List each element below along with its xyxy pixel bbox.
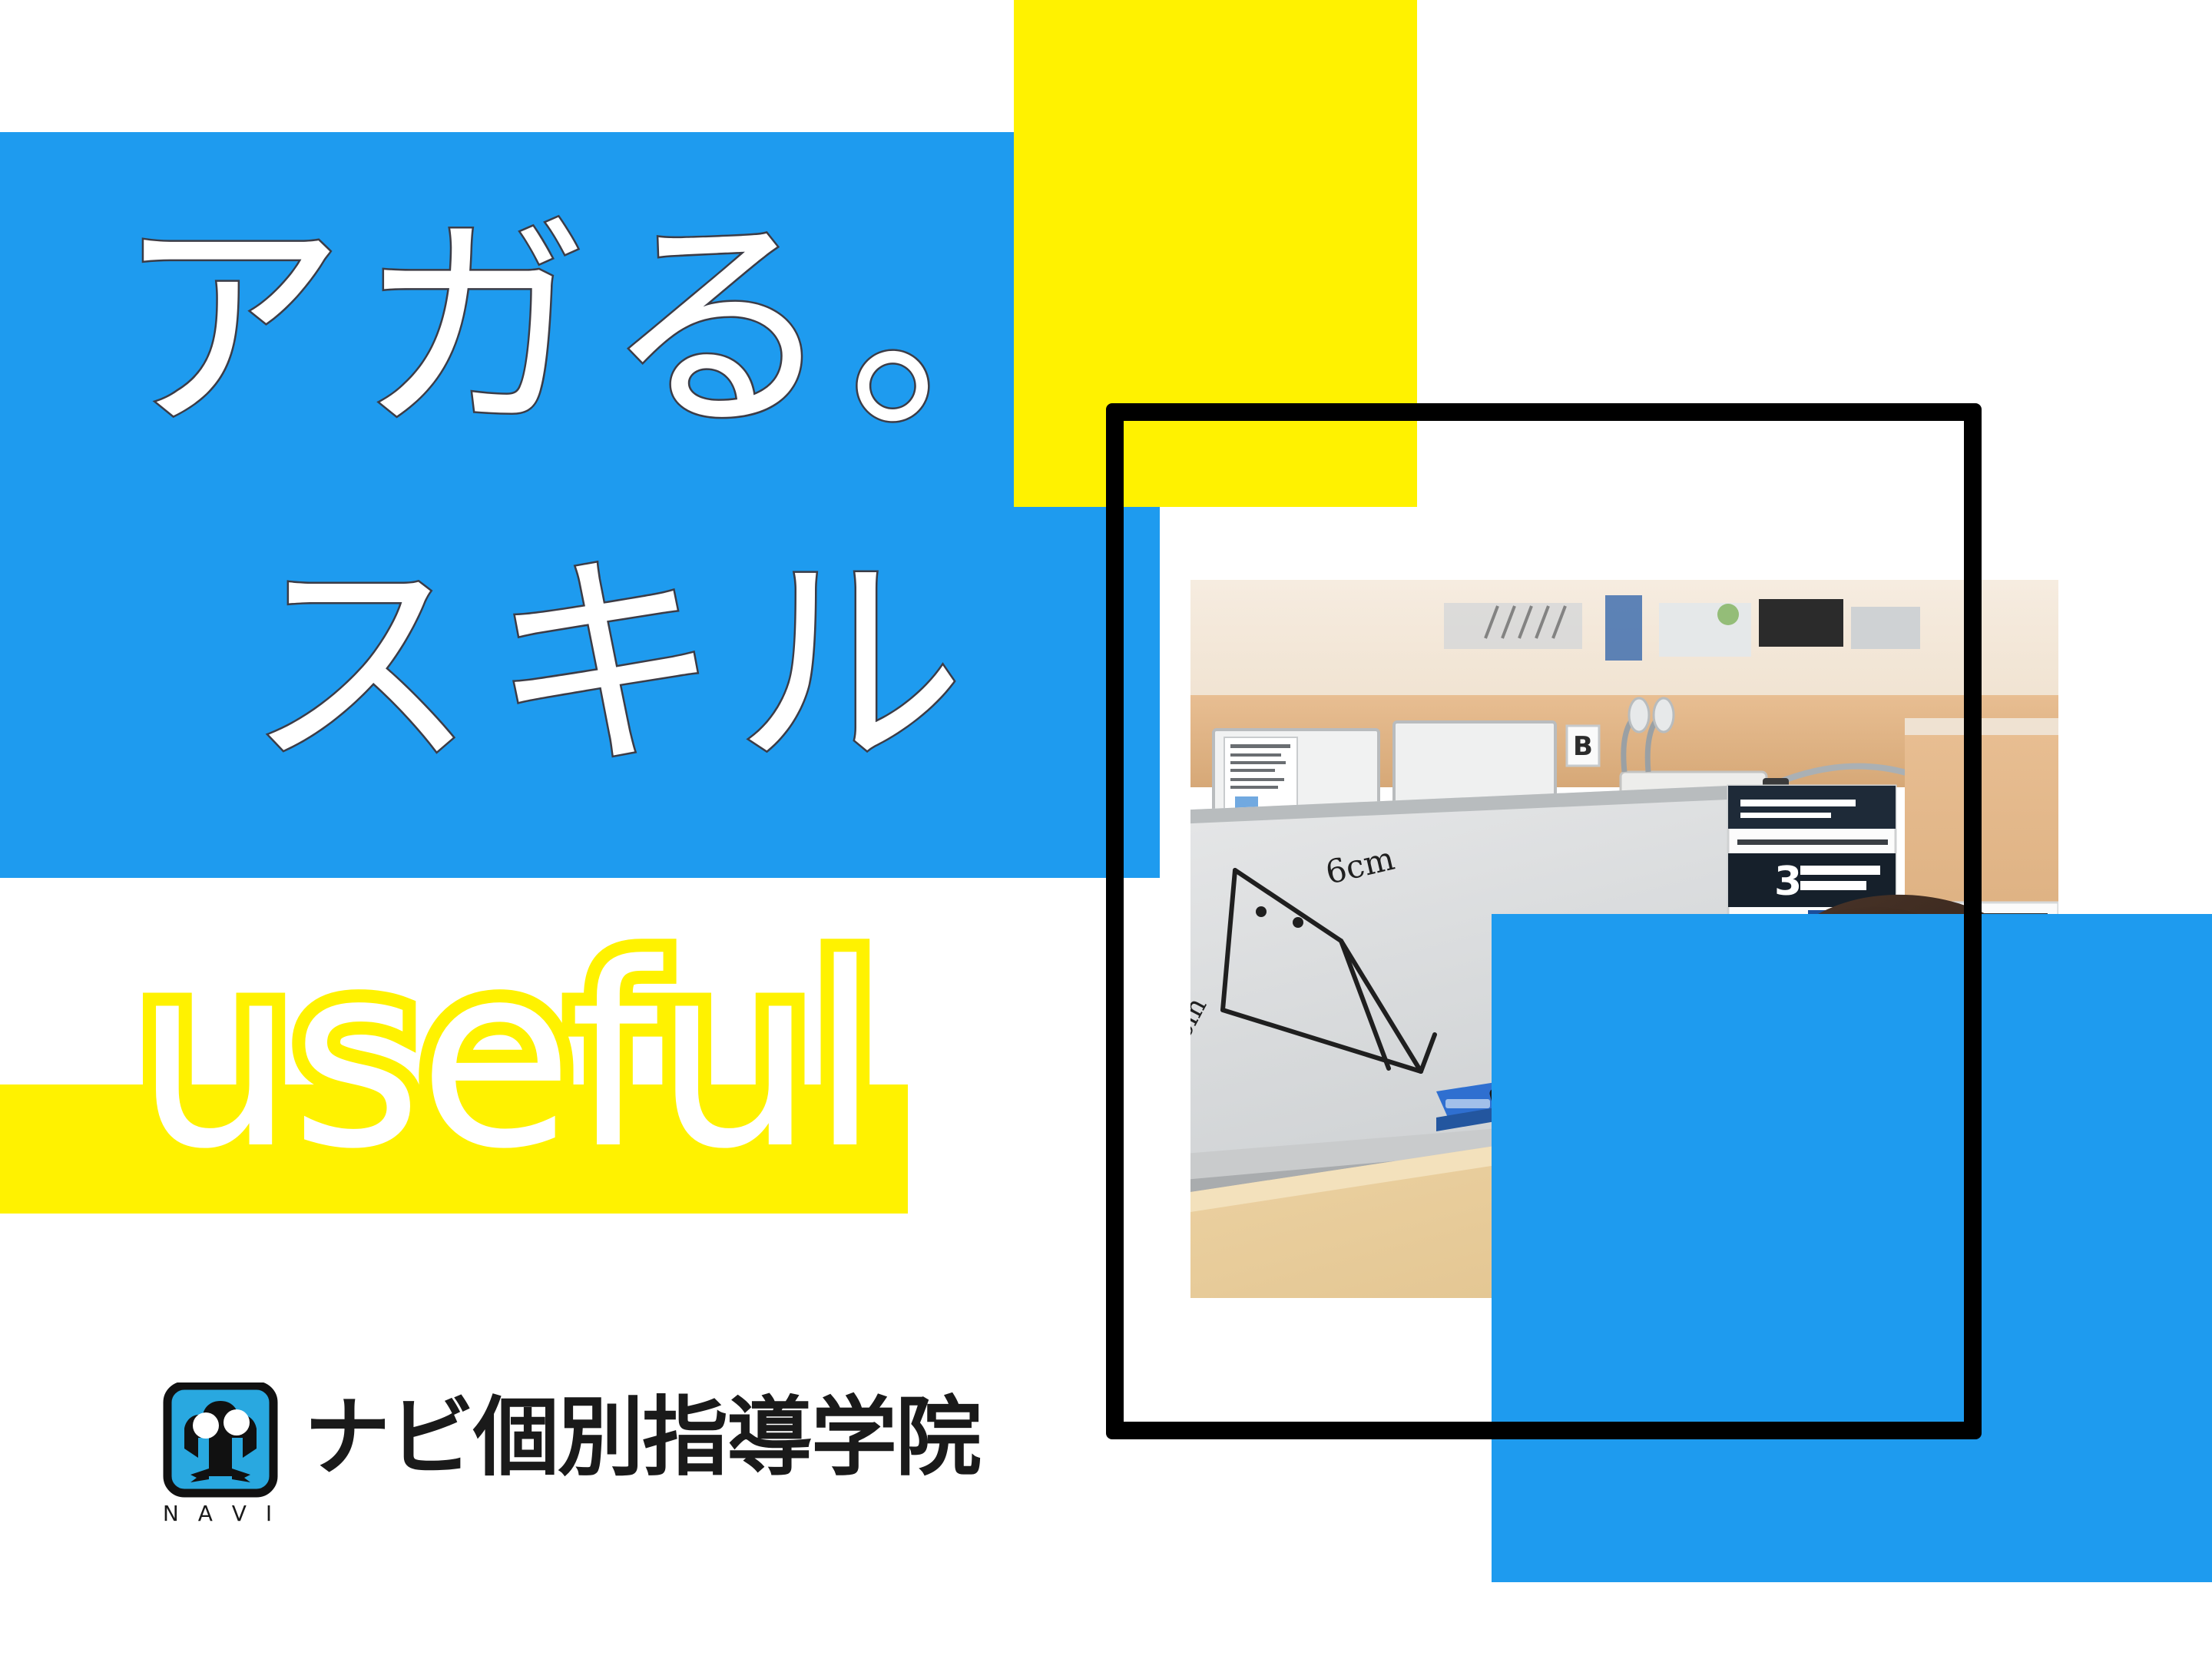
banner-canvas: B: [0, 0, 2212, 1659]
navi-caption: N A V I: [163, 1501, 278, 1526]
headline-line-2: スキル: [246, 531, 979, 783]
brand-logo: N A V I ナビ個別指導学院: [163, 1382, 1000, 1544]
brand-name-wordmark: ナビ個別指導学院: [304, 1382, 1000, 1491]
navi-mascot-icon: N A V I: [163, 1382, 278, 1528]
brand-name-text: ナビ個別指導学院: [304, 1388, 981, 1488]
useful-wordmark: useful: [134, 891, 949, 1214]
photo-outline-frame: [1106, 403, 1982, 1439]
useful-text: useful: [134, 909, 876, 1204]
headline-group: アガる。 スキル: [115, 177, 1037, 783]
headline-line-1: アガる。: [115, 194, 1037, 462]
